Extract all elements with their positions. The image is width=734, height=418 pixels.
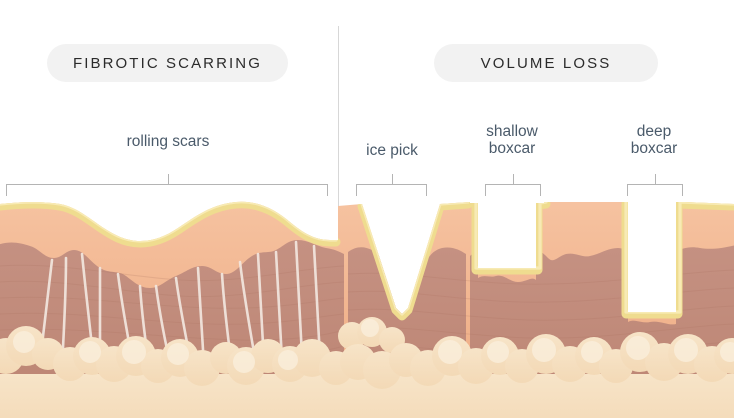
scar-label-shallow-boxcar: shallow boxcar [464, 123, 560, 157]
bracket-bar [6, 184, 328, 185]
bracket-deep-boxcar [627, 174, 683, 197]
bracket-bar [356, 184, 427, 185]
skin-layers-group [0, 196, 734, 418]
bracket-left-cap [6, 184, 7, 196]
scar-label-ice-pick: ice pick [350, 142, 434, 159]
bracket-right-cap [327, 184, 328, 196]
bracket-rolling-scars [6, 174, 328, 197]
bracket-left-cap [356, 184, 357, 196]
bracket-bar [627, 184, 683, 185]
bracket-shallow-boxcar [485, 174, 541, 197]
bracket-right-cap [682, 184, 683, 196]
bracket-left-cap [627, 184, 628, 196]
category-pill-fibrotic-scarring: FIBROTIC SCARRING [47, 44, 288, 82]
bracket-right-cap [426, 184, 427, 196]
bracket-bar [485, 184, 541, 185]
skin-cross-section [0, 196, 734, 418]
bracket-ice-pick [356, 174, 427, 197]
category-pill-volume-loss: VOLUME LOSS [434, 44, 658, 82]
bracket-right-cap [540, 184, 541, 196]
diagram-canvas: FIBROTIC SCARRING VOLUME LOSS rolling sc… [0, 0, 734, 418]
bracket-left-cap [485, 184, 486, 196]
scar-label-rolling-scars: rolling scars [63, 133, 273, 150]
scar-label-deep-boxcar: deep boxcar [606, 123, 702, 157]
section-divider [338, 26, 339, 206]
